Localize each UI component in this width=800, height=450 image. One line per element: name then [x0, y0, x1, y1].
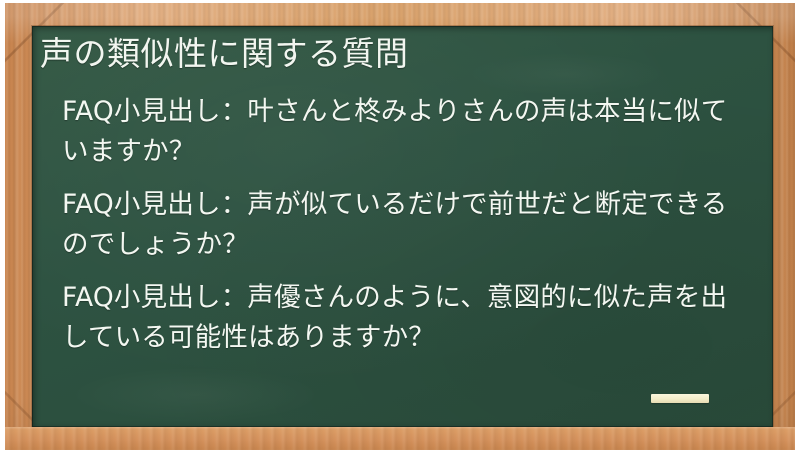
chalkboard-surface: 声の類似性に関する質問 FAQ小見出し：叶さんと柊みよりさんの声は本当に似ていま…: [32, 26, 773, 427]
chalkboard-frame: 声の類似性に関する質問 FAQ小見出し：叶さんと柊みよりさんの声は本当に似ていま…: [5, 3, 795, 450]
chalkboard-content: 声の類似性に関する質問 FAQ小見出し：叶さんと柊みよりさんの声は本当に似ていま…: [32, 26, 773, 427]
slide-canvas: 声の類似性に関する質問 FAQ小見出し：叶さんと柊みよりさんの声は本当に似ていま…: [0, 0, 800, 450]
faq-item-2: FAQ小見出し：声が似ているだけで前世だと断定できるのでしょうか？: [62, 185, 734, 265]
chalk-tray-ledge: [5, 427, 795, 450]
chalk-stick-icon: [651, 394, 709, 403]
page-title: 声の類似性に関する質問: [40, 32, 755, 76]
faq-item-1: FAQ小見出し：叶さんと柊みよりさんの声は本当に似ていますか？: [62, 92, 734, 172]
faq-item-3: FAQ小見出し：声優さんのように、意図的に似た声を出している可能性はありますか？: [62, 278, 734, 358]
faq-list: FAQ小見出し：叶さんと柊みよりさんの声は本当に似ていますか？ FAQ小見出し：…: [40, 92, 755, 358]
